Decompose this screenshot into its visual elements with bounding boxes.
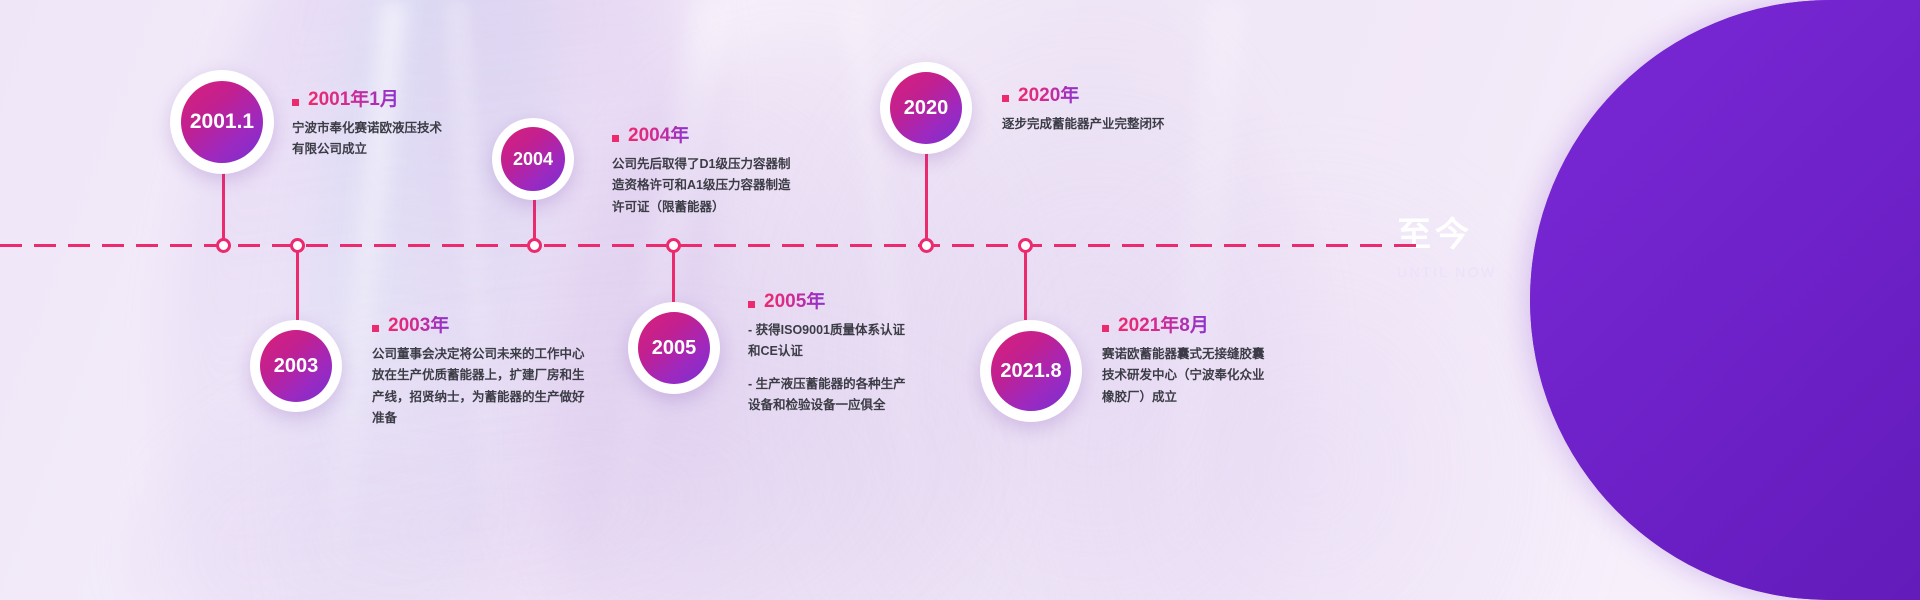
milestone-entry-2004: 2004年 公司先后取得了D1级压力容器制 造资格许可和A1级压力容器制造 许可… <box>612 126 832 218</box>
milestone-paragraph: 宁波市奉化赛诺欧液压技术 有限公司成立 <box>292 118 472 161</box>
milestone-heading: 2021年8月 <box>1102 316 1322 337</box>
square-bullet-icon <box>292 99 299 106</box>
milestone-paragraph: - 获得ISO9001质量体系认证 和CE认证 <box>748 320 948 363</box>
square-bullet-icon <box>748 301 755 308</box>
milestone-badge-2004: 2004 <box>501 127 565 191</box>
milestone-paragraph: 公司先后取得了D1级压力容器制 造资格许可和A1级压力容器制造 许可证（限蓄能器… <box>612 154 832 219</box>
milestone-title: 2005年 <box>764 292 825 313</box>
timeline-node-2020[interactable] <box>919 238 934 253</box>
timeline-stem-2021 <box>1024 244 1027 320</box>
milestone-body: - 获得ISO9001质量体系认证 和CE认证 - 生产液压蓄能器的各种生产 设… <box>748 320 948 417</box>
timeline-node-2005[interactable] <box>666 238 681 253</box>
milestone-heading: 2003年 <box>372 316 602 337</box>
milestone-paragraph: 赛诺欧蓄能器囊式无接缝胶囊 技术研发中心（宁波奉化众业 橡胶厂）成立 <box>1102 344 1322 409</box>
milestone-circle-2004[interactable]: 2004 <box>492 118 574 200</box>
milestone-paragraph: 逐步完成蓄能器产业完整闭环 <box>1002 114 1262 136</box>
milestone-circle-2001[interactable]: 2001.1 <box>170 70 274 174</box>
milestone-title: 2004年 <box>628 126 689 147</box>
milestone-circle-2003[interactable]: 2003 <box>250 320 342 412</box>
milestone-heading: 2020年 <box>1002 86 1262 107</box>
milestone-entry-2021: 2021年8月 赛诺欧蓄能器囊式无接缝胶囊 技术研发中心（宁波奉化众业 橡胶厂）… <box>1102 316 1322 408</box>
milestone-title: 2003年 <box>388 316 449 337</box>
square-bullet-icon <box>1102 325 1109 332</box>
milestone-title: 2020年 <box>1018 86 1079 107</box>
milestone-entry-2001: 2001年1月 宁波市奉化赛诺欧液压技术 有限公司成立 <box>292 90 472 161</box>
timeline-node-2003[interactable] <box>290 238 305 253</box>
milestone-badge-2005: 2005 <box>638 312 710 384</box>
timeline-stem-2003 <box>296 244 299 320</box>
milestone-body: 宁波市奉化赛诺欧液压技术 有限公司成立 <box>292 118 472 161</box>
timeline-node-2004[interactable] <box>527 238 542 253</box>
milestone-paragraph: - 生产液压蓄能器的各种生产 设备和检验设备一应俱全 <box>748 374 948 417</box>
milestone-paragraph: 公司董事会决定将公司未来的工作中心 放在生产优质蓄能器上，扩建厂房和生 产线，招… <box>372 344 602 430</box>
timeline-node-2021[interactable] <box>1018 238 1033 253</box>
milestone-heading: 2005年 <box>748 292 948 313</box>
milestone-circle-2020[interactable]: 2020 <box>880 62 972 154</box>
milestone-circle-2021[interactable]: 2021.8 <box>980 320 1082 422</box>
until-now-title-cn: 至今 <box>1397 216 1597 255</box>
milestone-badge-2001: 2001.1 <box>181 81 263 163</box>
square-bullet-icon <box>1002 95 1009 102</box>
timeline-node-2001[interactable] <box>216 238 231 253</box>
milestone-body: 赛诺欧蓄能器囊式无接缝胶囊 技术研发中心（宁波奉化众业 橡胶厂）成立 <box>1102 344 1322 409</box>
square-bullet-icon <box>372 325 379 332</box>
milestone-entry-2020: 2020年 逐步完成蓄能器产业完整闭环 <box>1002 86 1262 135</box>
milestone-badge-2020: 2020 <box>890 72 962 144</box>
milestone-badge-2003: 2003 <box>260 330 332 402</box>
square-bullet-icon <box>612 135 619 142</box>
milestone-entry-2003: 2003年 公司董事会决定将公司未来的工作中心 放在生产优质蓄能器上，扩建厂房和… <box>372 316 602 430</box>
until-now-title-en: UNTIL NOW <box>1397 264 1597 280</box>
milestone-heading: 2004年 <box>612 126 832 147</box>
milestone-heading: 2001年1月 <box>292 90 472 111</box>
milestone-body: 逐步完成蓄能器产业完整闭环 <box>1002 114 1262 136</box>
milestone-body: 公司董事会决定将公司未来的工作中心 放在生产优质蓄能器上，扩建厂房和生 产线，招… <box>372 344 602 430</box>
milestone-entry-2005: 2005年 - 获得ISO9001质量体系认证 和CE认证 - 生产液压蓄能器的… <box>748 292 948 417</box>
milestone-title: 2021年8月 <box>1118 316 1209 337</box>
timeline-axis <box>0 244 1420 247</box>
milestone-badge-2021: 2021.8 <box>991 331 1071 411</box>
until-now-label: 至今 UNTIL NOW <box>1397 216 1597 280</box>
timeline-stem-2020 <box>925 152 928 246</box>
milestone-circle-2005[interactable]: 2005 <box>628 302 720 394</box>
milestone-title: 2001年1月 <box>308 90 399 111</box>
milestone-body: 公司先后取得了D1级压力容器制 造资格许可和A1级压力容器制造 许可证（限蓄能器… <box>612 154 832 219</box>
